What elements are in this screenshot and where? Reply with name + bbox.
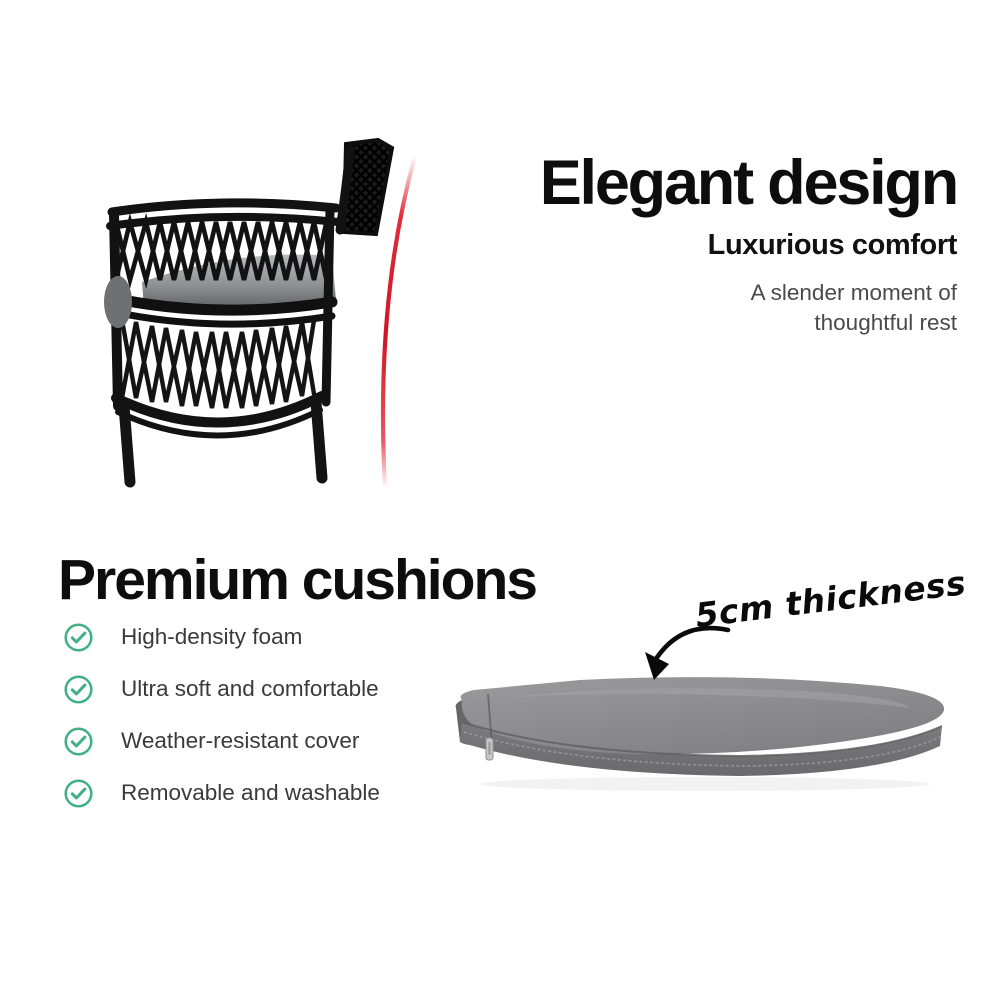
feature-label: High-density foam [121, 622, 302, 651]
feature-label: Weather-resistant cover [121, 726, 359, 755]
product-infographic: Elegant design Luxurious comfort A slend… [0, 0, 1000, 1000]
list-item: High-density foam [60, 618, 460, 670]
check-circle-icon [63, 622, 94, 653]
body-line-1: A slender moment of [420, 278, 957, 308]
annotation-5cm-thickness: 5cm thickness [693, 563, 968, 635]
body-copy: A slender moment of thoughtful rest [420, 278, 957, 338]
zipper-pull-icon [486, 738, 493, 760]
subheading-luxurious-comfort: Luxurious comfort [420, 228, 957, 262]
body-line-2: thoughtful rest [420, 308, 957, 338]
list-item: Ultra soft and comfortable [60, 670, 460, 722]
feature-list: High-density foam Ultra soft and comfort… [60, 618, 460, 826]
headline-elegant-design: Elegant design [420, 148, 957, 218]
check-circle-icon [63, 674, 94, 705]
feature-label: Removable and washable [121, 778, 380, 807]
list-item: Removable and washable [60, 774, 460, 826]
check-circle-icon [63, 778, 94, 809]
feature-label: Ultra soft and comfortable [121, 674, 379, 703]
check-circle-icon [63, 726, 94, 757]
heading-premium-cushions: Premium cushions [58, 548, 536, 612]
list-item: Weather-resistant cover [60, 722, 460, 774]
